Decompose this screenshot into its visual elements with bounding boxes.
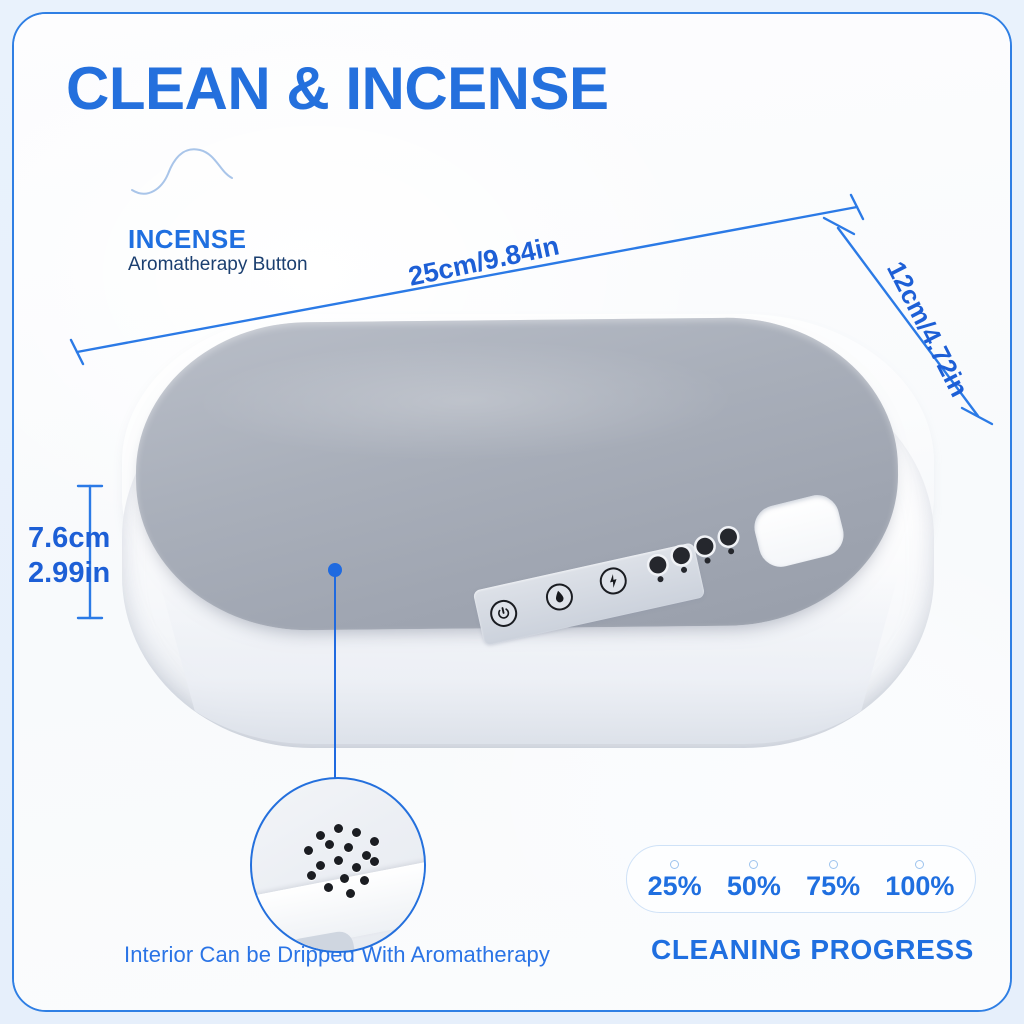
height-dimension-label-cm: 7.6cm xyxy=(28,522,110,555)
vent-hole-group xyxy=(252,779,426,953)
vent-hole xyxy=(360,876,369,885)
progress-step[interactable]: 25% xyxy=(648,860,702,908)
vent-hole xyxy=(316,861,325,870)
progress-step-dot-icon xyxy=(749,860,758,869)
progress-step-label: 75% xyxy=(806,873,860,908)
vent-hole xyxy=(334,856,343,865)
vent-hole xyxy=(344,843,353,852)
vent-hole xyxy=(304,846,313,855)
feature-description: Aromatherapy Button xyxy=(128,254,308,276)
vent-hole xyxy=(325,840,334,849)
vent-hole xyxy=(346,889,355,898)
vent-hole xyxy=(307,871,316,880)
callout-anchor-dot xyxy=(328,563,342,577)
cleaning-progress-indicator: 25% 50% 75% 100% xyxy=(626,845,976,913)
vent-hole xyxy=(316,831,325,840)
vent-hole xyxy=(352,828,361,837)
progress-step[interactable]: 75% xyxy=(806,860,860,908)
vent-hole xyxy=(340,874,349,883)
content-frame: CLEAN & INCENSE INCENSE Aromatherapy But… xyxy=(12,12,1012,1012)
vent-hole xyxy=(324,883,333,892)
progress-heading: CLEANING PROGRESS xyxy=(651,934,974,966)
page-title: CLEAN & INCENSE xyxy=(66,54,609,123)
vent-hole xyxy=(352,863,361,872)
progress-step-label: 25% xyxy=(648,873,702,908)
progress-step[interactable]: 50% xyxy=(727,860,781,908)
progress-step-label: 50% xyxy=(727,873,781,908)
vent-hole xyxy=(334,824,343,833)
progress-step-dot-icon xyxy=(829,860,838,869)
progress-step-label: 100% xyxy=(885,873,954,908)
callout-leader-line xyxy=(334,570,336,782)
progress-step-dot-icon xyxy=(915,860,924,869)
vent-hole xyxy=(370,837,379,846)
infographic-stage: CLEAN & INCENSE INCENSE Aromatherapy But… xyxy=(0,0,1024,1024)
magnified-vent-detail xyxy=(250,777,426,953)
progress-step-dot-icon xyxy=(670,860,679,869)
height-dimension-label-in: 2.99in xyxy=(28,557,110,590)
vent-hole xyxy=(370,857,379,866)
feature-name: INCENSE xyxy=(128,224,246,255)
progress-step[interactable]: 100% xyxy=(885,860,954,908)
depth-tick-bottom xyxy=(962,408,992,424)
depth-tick-top xyxy=(824,218,854,234)
